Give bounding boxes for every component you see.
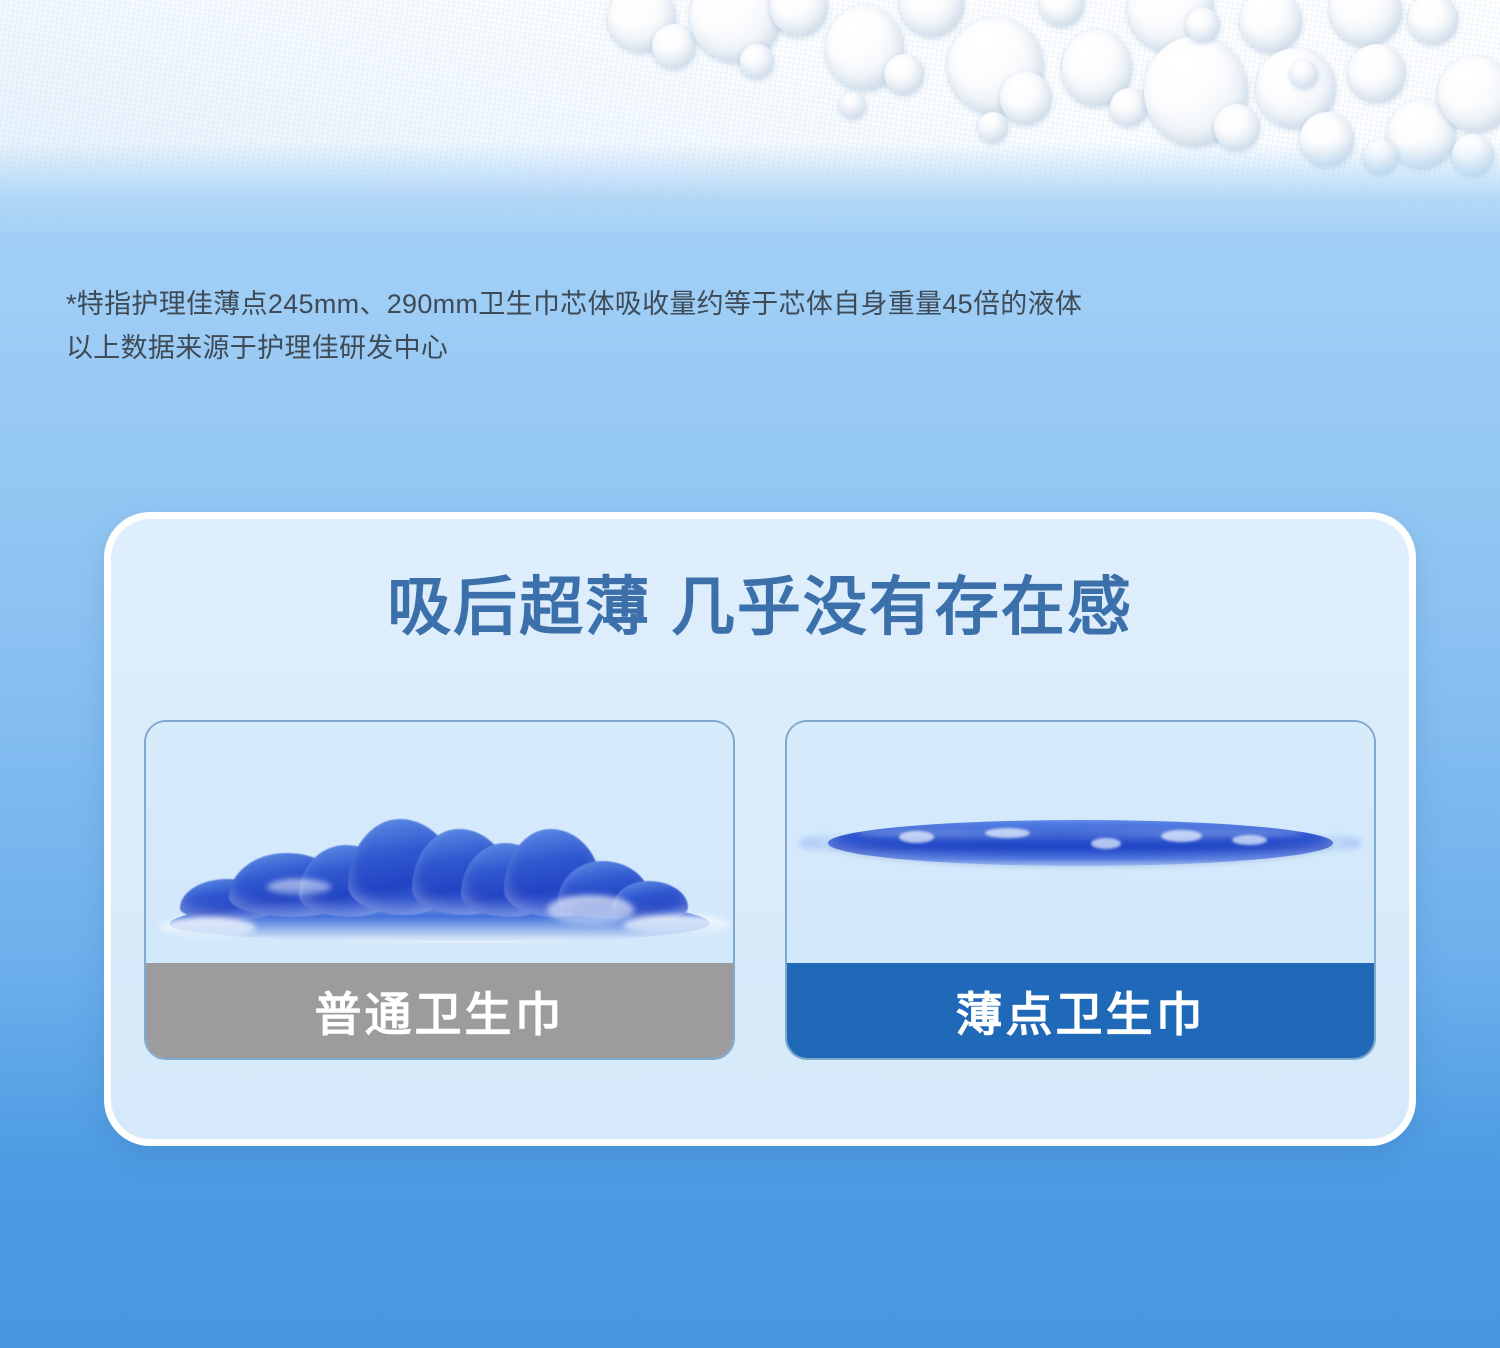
foam-bubble-icon bbox=[1000, 72, 1052, 124]
thick-swollen-core-icon bbox=[169, 815, 709, 943]
foam-bubble-icon bbox=[1186, 8, 1220, 42]
panel-thin-dot-pad: 薄点卫生巾 bbox=[785, 720, 1376, 1060]
panel-label-ordinary: 普通卫生巾 bbox=[146, 963, 733, 1058]
comparison-card: 吸后超薄 几乎没有存在感 bbox=[104, 512, 1416, 1146]
foam-bubble-icon bbox=[1290, 60, 1318, 88]
foam-bubble-icon bbox=[840, 92, 866, 118]
ordinary-pad-figure bbox=[146, 722, 733, 963]
comparison-panels: 普通卫生巾 薄点卫生巾 bbox=[144, 720, 1376, 1060]
hero-bottom-fade bbox=[0, 142, 1500, 232]
foam-bubble-icon bbox=[978, 112, 1008, 142]
thin-dot-pad-figure bbox=[787, 722, 1374, 963]
disclaimer-line-1: *特指护理佳薄点245mm、290mm卫生巾芯体吸收量约等于芯体自身重量45倍的… bbox=[66, 282, 1326, 326]
foam-bubble-icon bbox=[740, 44, 774, 78]
foam-bubble-icon bbox=[884, 54, 924, 94]
card-title: 吸后超薄 几乎没有存在感 bbox=[111, 575, 1409, 639]
panel-label-thin-dot: 薄点卫生巾 bbox=[787, 963, 1374, 1058]
foam-bubble-icon bbox=[652, 24, 696, 68]
hero-banner bbox=[0, 0, 1500, 232]
foam-bubble-icon bbox=[1110, 88, 1148, 126]
foam-bubble-icon bbox=[1348, 44, 1406, 102]
panel-ordinary-pad: 普通卫生巾 bbox=[144, 720, 735, 1060]
product-feature-page: *特指护理佳薄点245mm、290mm卫生巾芯体吸收量约等于芯体自身重量45倍的… bbox=[0, 0, 1500, 1348]
disclaimer-line-2: 以上数据来源于护理佳研发中心 bbox=[66, 326, 1326, 370]
thin-flat-core-icon bbox=[828, 820, 1333, 866]
disclaimer-text: *特指护理佳薄点245mm、290mm卫生巾芯体吸收量约等于芯体自身重量45倍的… bbox=[66, 282, 1326, 370]
